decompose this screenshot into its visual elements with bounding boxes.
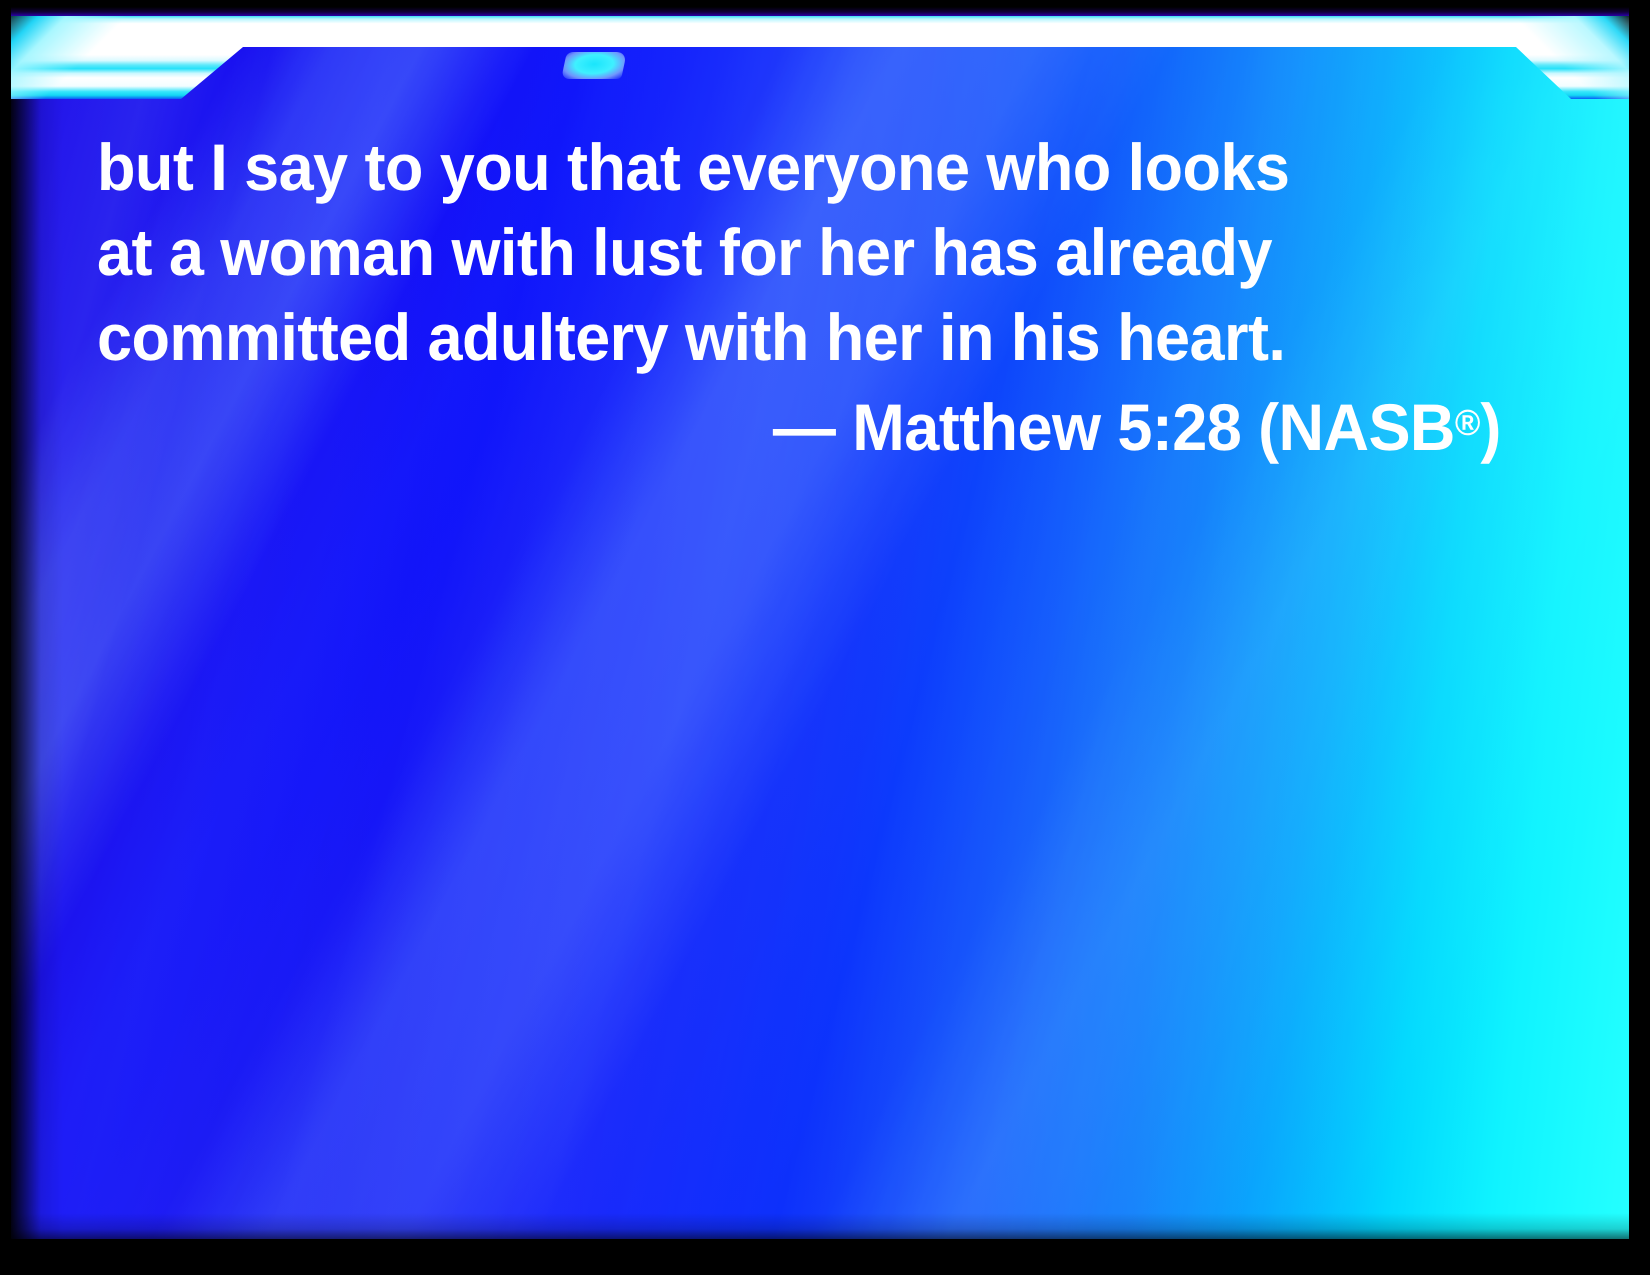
slide-panel: but I say to you that everyone who looks… — [11, 7, 1629, 1239]
verse-line-3: committed adultery with her in his heart… — [97, 295, 1501, 380]
verse-line-2: at a woman with lust for her has already — [97, 210, 1501, 295]
registered-trademark-icon: ® — [1455, 402, 1481, 443]
verse-attribution: — Matthew 5:28 (NASB®) — [97, 380, 1501, 470]
verse-slide: but I say to you that everyone who looks… — [0, 0, 1650, 1275]
verse-line-1: but I say to you that everyone who looks — [97, 125, 1501, 210]
attribution-close-paren: ) — [1480, 390, 1500, 464]
attribution-reference: — Matthew 5:28 (NASB — [773, 390, 1455, 464]
verse-text-block: but I say to you that everyone who looks… — [97, 125, 1501, 470]
